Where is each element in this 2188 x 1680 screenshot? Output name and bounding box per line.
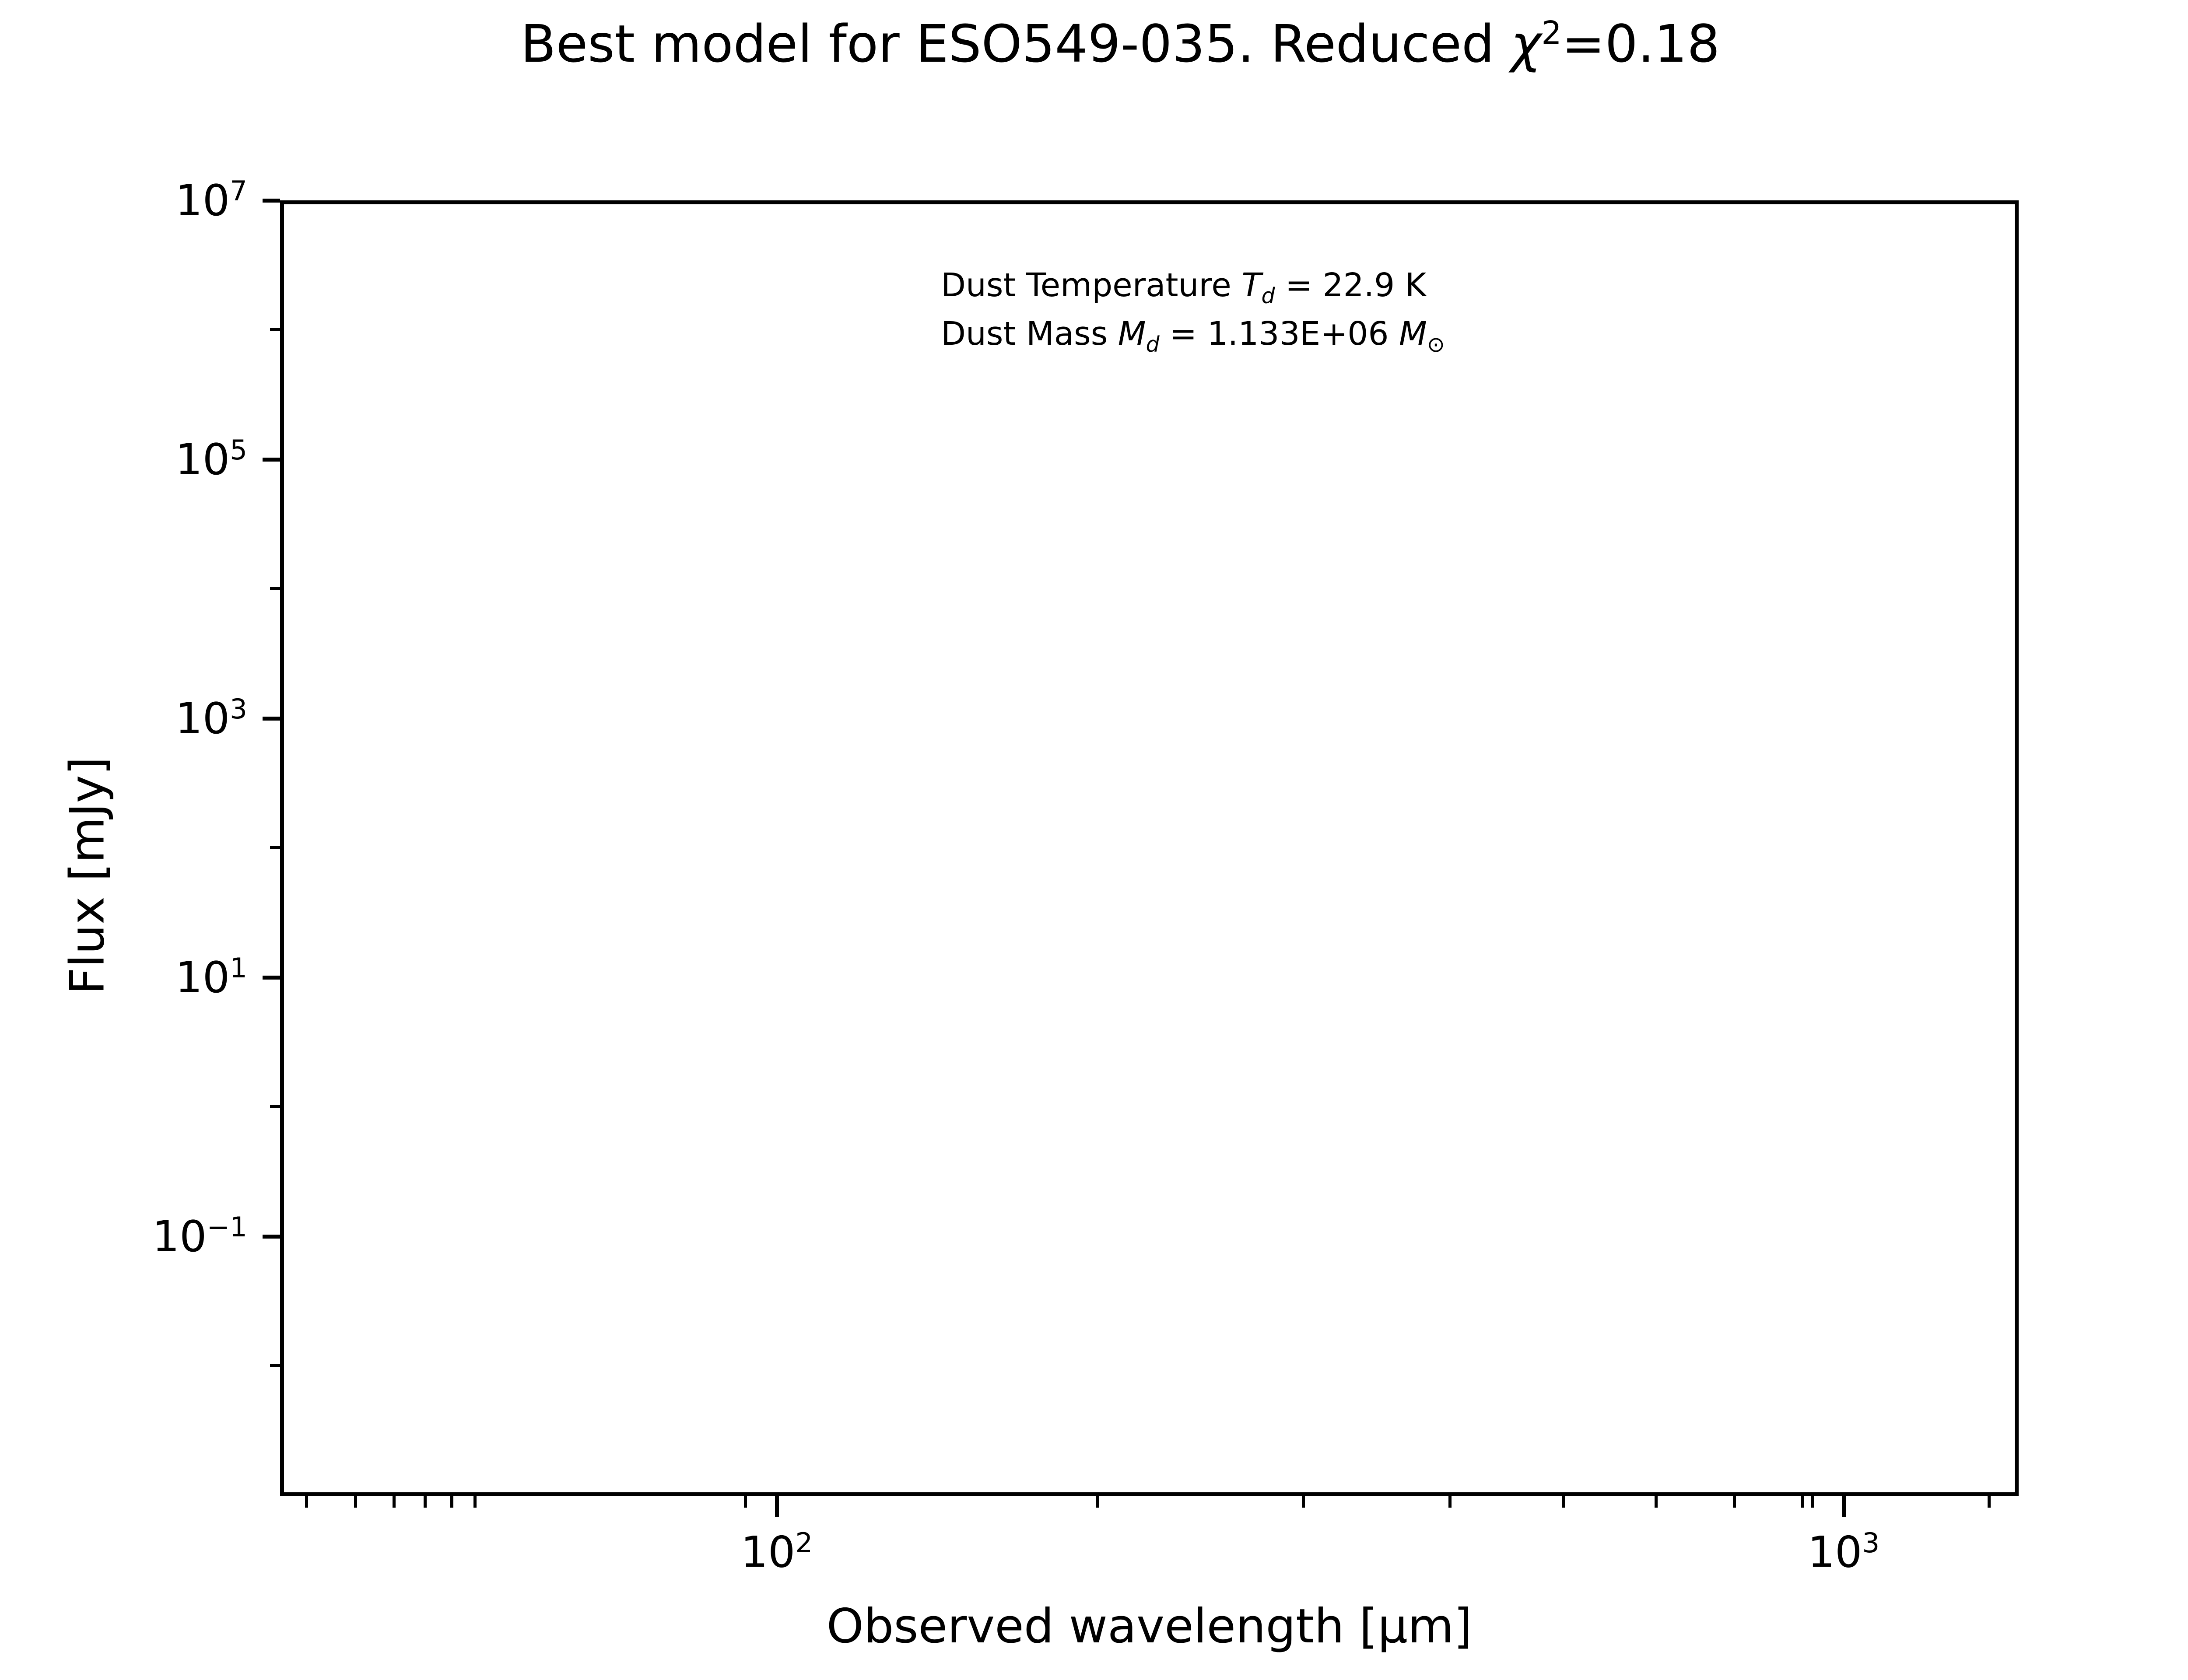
dust-temperature-symbol: T (1241, 266, 1261, 304)
x-minor-tick-900 (1801, 1496, 1804, 1508)
x-minor-tick-700 (1655, 1496, 1658, 1508)
y-tick-label-1e3: 103 (0, 693, 247, 744)
x-minor-tick-1400 (1988, 1496, 1991, 1508)
x-minor-tick-300 (1096, 1496, 1099, 1508)
dust-temperature-label: Dust Temperature (941, 266, 1241, 304)
dust-mass-line: Dust Mass Md = 1.133E+06 M⊙ (941, 311, 1641, 360)
x-axis-label: Observed wavelength [μm] (280, 1599, 2019, 1654)
dust-temperature-value: = 22.9 K (1275, 266, 1426, 304)
figure-root: Best model for ESO549-035. Reduced χ2=0.… (0, 0, 2188, 1680)
dust-temperature-line: Dust Temperature Td = 22.9 K (941, 262, 1641, 311)
x-minor-tick-600 (1562, 1496, 1565, 1508)
y-tick-1em1 (263, 1235, 280, 1239)
x-minor-tick-40 (305, 1496, 308, 1508)
chi-exponent: 2 (1541, 15, 1562, 52)
title-prefix: Best model for ESO549-035. Reduced (521, 14, 1511, 74)
x-minor-tick-90 (473, 1496, 477, 1508)
y-tick-1e3 (263, 717, 280, 721)
y-tick-label-1e5: 105 (0, 434, 247, 485)
x-minor-tick-50 (354, 1496, 357, 1508)
dust-mass-value: = 1.133E+06 (1160, 315, 1399, 353)
dust-mass-subscript: d (1146, 332, 1160, 357)
x-tick-label-1e3: 103 (1734, 1527, 1953, 1578)
chi-symbol: χ (1511, 14, 1541, 74)
y-axis-label: Flux [mJy] (60, 220, 115, 1532)
dust-temperature-subscript: d (1261, 283, 1275, 308)
solar-mass-symbol: M (1399, 315, 1427, 353)
x-minor-tick-400 (1302, 1496, 1305, 1508)
x-tick-1e2 (775, 1496, 779, 1517)
y-tick-label-1e1: 101 (0, 952, 247, 1003)
y-minor-tick-1e6 (270, 328, 280, 331)
x-tick-1e3 (1842, 1496, 1846, 1517)
title-suffix: =0.18 (1562, 14, 1720, 74)
x-minor-tick-950 (1811, 1496, 1814, 1508)
x-minor-tick-500 (1448, 1496, 1452, 1508)
x-minor-tick-60 (393, 1496, 396, 1508)
y-tick-1e7 (263, 199, 280, 203)
x-tick-label-1e2: 102 (667, 1527, 886, 1578)
y-minor-tick-1em2 (270, 1364, 280, 1367)
x-minor-tick-70 (424, 1496, 427, 1508)
y-tick-1e5 (263, 458, 280, 462)
x-minor-tick-80 (450, 1496, 453, 1508)
page-title: Best model for ESO549-035. Reduced χ2=0.… (0, 16, 2188, 73)
dust-mass-label: Dust Mass (941, 315, 1118, 353)
plot-frame (280, 200, 2019, 1496)
x-minor-tick-800 (1733, 1496, 1736, 1508)
y-minor-tick-1e4 (270, 587, 280, 590)
y-tick-1e1 (263, 976, 280, 980)
y-minor-tick-1e2 (270, 846, 280, 849)
solar-mass-subscript: ⊙ (1427, 332, 1445, 357)
y-minor-tick-1e0 (270, 1105, 280, 1108)
y-tick-label-1e7: 107 (0, 175, 247, 226)
x-minor-tick-200 (744, 1496, 747, 1508)
fit-parameters-annotation: Dust Temperature Td = 22.9 K Dust Mass M… (941, 262, 1641, 360)
y-tick-label-1em1: 10−1 (0, 1211, 247, 1262)
dust-mass-symbol: M (1118, 315, 1146, 353)
